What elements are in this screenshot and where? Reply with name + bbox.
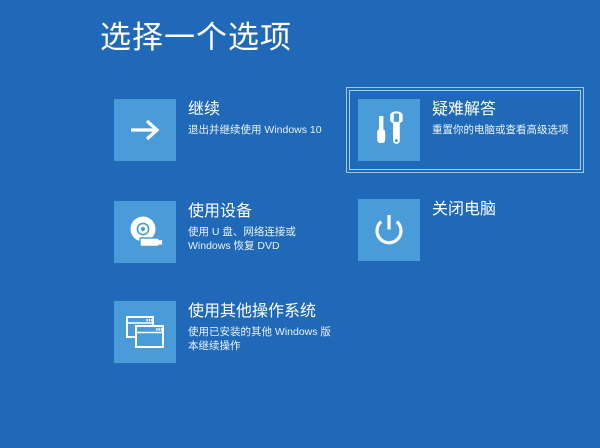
option-continue[interactable]: 继续 退出并继续使用 Windows 10 (105, 90, 345, 170)
tools-wrench-screwdriver-icon (358, 99, 420, 161)
arrow-right-icon (114, 99, 176, 161)
windows-stack-icon (114, 301, 176, 363)
options-column-left: 继续 退出并继续使用 Windows 10 使用设备 使用 U 盘、网络连接或 … (105, 90, 345, 386)
option-title: 使用设备 (188, 202, 336, 222)
option-text: 关闭电脑 (432, 199, 496, 223)
disc-usb-device-icon (114, 201, 176, 263)
option-text: 使用其他操作系统 使用已安装的其他 Windows 版本继续操作 (188, 301, 336, 353)
option-turn-off-pc[interactable]: 关闭电脑 (349, 190, 581, 270)
option-troubleshoot[interactable]: 疑难解答 重置你的电脑或查看高级选项 (349, 90, 581, 170)
option-text: 继续 退出并继续使用 Windows 10 (188, 99, 322, 137)
option-description: 使用 U 盘、网络连接或 Windows 恢复 DVD (188, 225, 336, 253)
option-description: 退出并继续使用 Windows 10 (188, 123, 322, 137)
option-description: 重置你的电脑或查看高级选项 (432, 123, 569, 137)
option-title: 关闭电脑 (432, 200, 496, 220)
option-use-a-device[interactable]: 使用设备 使用 U 盘、网络连接或 Windows 恢复 DVD (105, 192, 345, 272)
power-icon (358, 199, 420, 261)
option-use-another-operating-system[interactable]: 使用其他操作系统 使用已安装的其他 Windows 版本继续操作 (105, 292, 345, 372)
option-title: 继续 (188, 100, 322, 120)
option-description: 使用已安装的其他 Windows 版本继续操作 (188, 325, 336, 353)
page-title: 选择一个选项 (100, 16, 292, 60)
options-column-right: 疑难解答 重置你的电脑或查看高级选项 关闭电脑 (349, 90, 581, 284)
option-title: 疑难解答 (432, 100, 569, 120)
option-title: 使用其他操作系统 (188, 302, 336, 322)
option-text: 疑难解答 重置你的电脑或查看高级选项 (432, 99, 569, 137)
option-text: 使用设备 使用 U 盘、网络连接或 Windows 恢复 DVD (188, 201, 336, 253)
